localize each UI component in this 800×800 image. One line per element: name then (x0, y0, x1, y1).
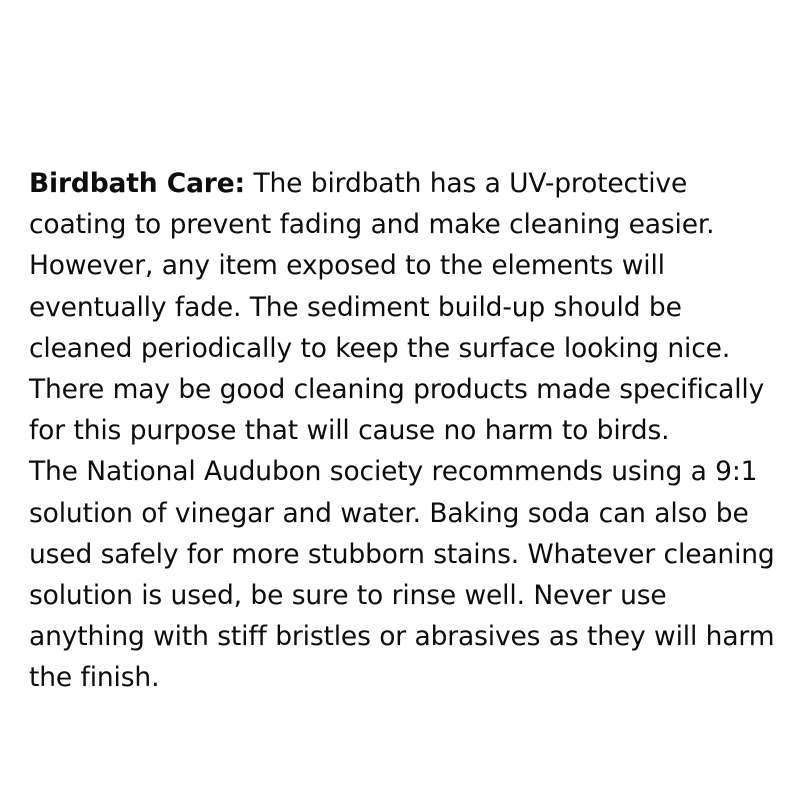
document-root: Birdbath Care: The birdbath has a UV-pro… (0, 0, 800, 800)
paragraph-lead-label: Birdbath Care: (29, 168, 245, 199)
paragraph-birdbath-care: Birdbath Care: The birdbath has a UV-pro… (29, 163, 777, 451)
paragraph-body-text: The National Audubon society recommends … (29, 456, 783, 693)
paragraph-audubon-recommendation: The National Audubon society recommends … (29, 451, 777, 698)
paragraph-body-text: The birdbath has a UV-protective coating… (29, 168, 773, 446)
care-instructions-text-block: Birdbath Care: The birdbath has a UV-pro… (29, 163, 777, 699)
